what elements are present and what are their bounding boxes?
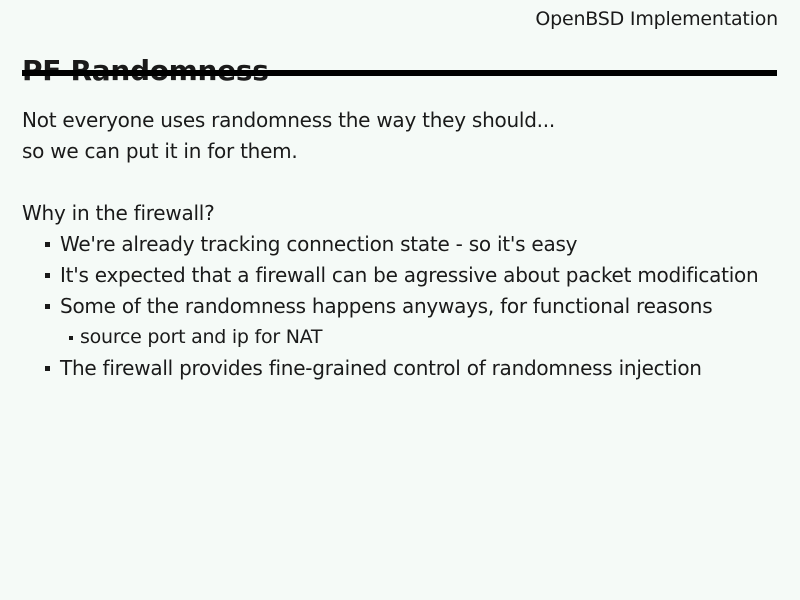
square-bullet-icon — [69, 336, 73, 340]
bullet-list: We're already tracking connection state … — [22, 229, 778, 384]
sub-bullet-list: source port and ip for NAT — [60, 322, 778, 353]
title-divider — [22, 70, 777, 76]
list-item: The firewall provides fine-grained contr… — [22, 353, 778, 384]
intro-line-1: Not everyone uses randomness the way the… — [22, 105, 778, 136]
list-item-label: The firewall provides fine-grained contr… — [60, 353, 778, 384]
list-item-label: It's expected that a firewall can be agr… — [60, 260, 778, 291]
square-bullet-icon — [45, 273, 50, 278]
slide: OpenBSD Implementation PF Randomness Not… — [0, 0, 800, 600]
intro-line-2: so we can put it in for them. — [22, 136, 778, 167]
list-item: Some of the randomness happens anyways, … — [22, 291, 778, 353]
body-spacer — [22, 167, 778, 198]
list-item-label: Some of the randomness happens anyways, … — [60, 291, 778, 322]
list-item-label: We're already tracking connection state … — [60, 229, 778, 260]
square-bullet-icon — [45, 304, 50, 309]
sub-list-item-label: source port and ip for NAT — [80, 326, 322, 348]
section-heading: Why in the firewall? — [22, 198, 778, 229]
slide-kicker: OpenBSD Implementation — [0, 8, 778, 30]
list-item: We're already tracking connection state … — [22, 229, 778, 260]
square-bullet-icon — [45, 366, 50, 371]
sub-list-item: source port and ip for NAT — [60, 322, 778, 353]
square-bullet-icon — [45, 242, 50, 247]
list-item: It's expected that a firewall can be agr… — [22, 260, 778, 291]
slide-body: Not everyone uses randomness the way the… — [22, 105, 778, 384]
